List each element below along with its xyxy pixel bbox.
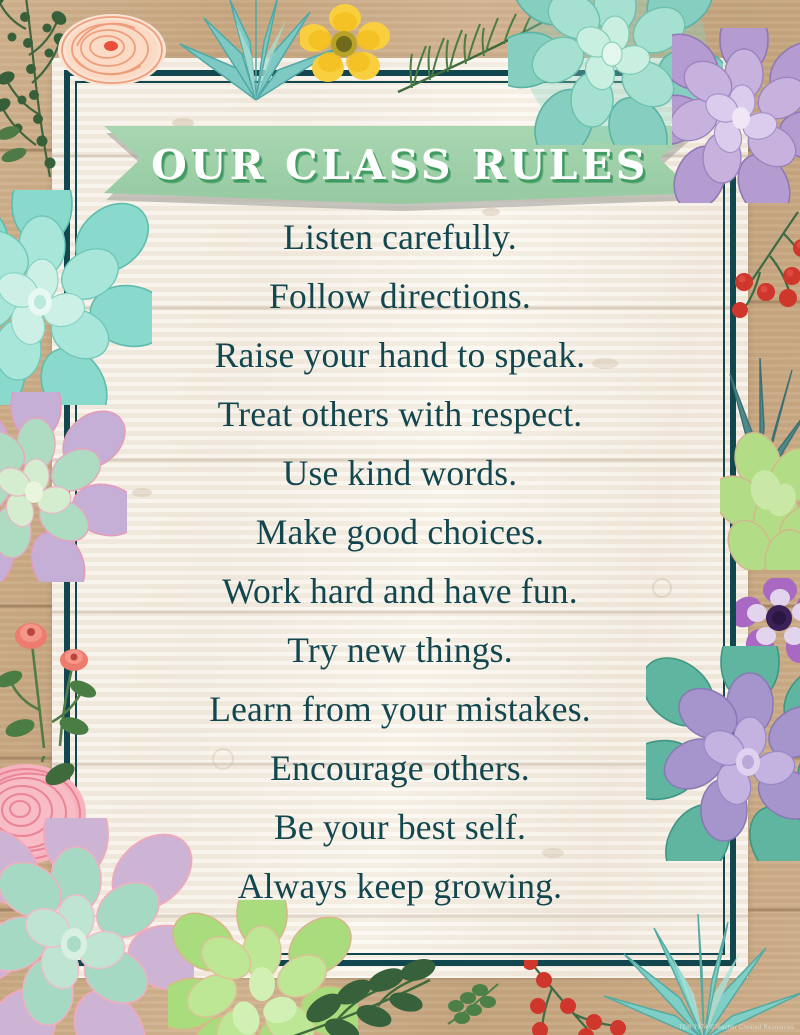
- title-banner: OUR CLASS RULES: [104, 126, 696, 212]
- page-title: OUR CLASS RULES: [104, 126, 696, 210]
- copyright-notice: TCR 7974 ©Teacher Created Resources: [679, 1025, 794, 1031]
- rule-item: Work hard and have fun.: [88, 562, 712, 621]
- rule-item: Raise your hand to speak.: [88, 326, 712, 385]
- rule-item: Make good choices.: [88, 503, 712, 562]
- rule-item: Learn from your mistakes.: [88, 680, 712, 739]
- classroom-rules-poster: OUR CLASS RULES Listen carefully. Follow…: [0, 0, 800, 1035]
- rule-item: Try new things.: [88, 621, 712, 680]
- rule-item: Follow directions.: [88, 267, 712, 326]
- rule-item: Be your best self.: [88, 798, 712, 857]
- rule-item: Encourage others.: [88, 739, 712, 798]
- rule-item: Use kind words.: [88, 444, 712, 503]
- rule-item: Treat others with respect.: [88, 385, 712, 444]
- rule-item: Listen carefully.: [88, 208, 712, 267]
- rules-list: Listen carefully. Follow directions. Rai…: [88, 208, 712, 916]
- rule-item: Always keep growing.: [88, 857, 712, 916]
